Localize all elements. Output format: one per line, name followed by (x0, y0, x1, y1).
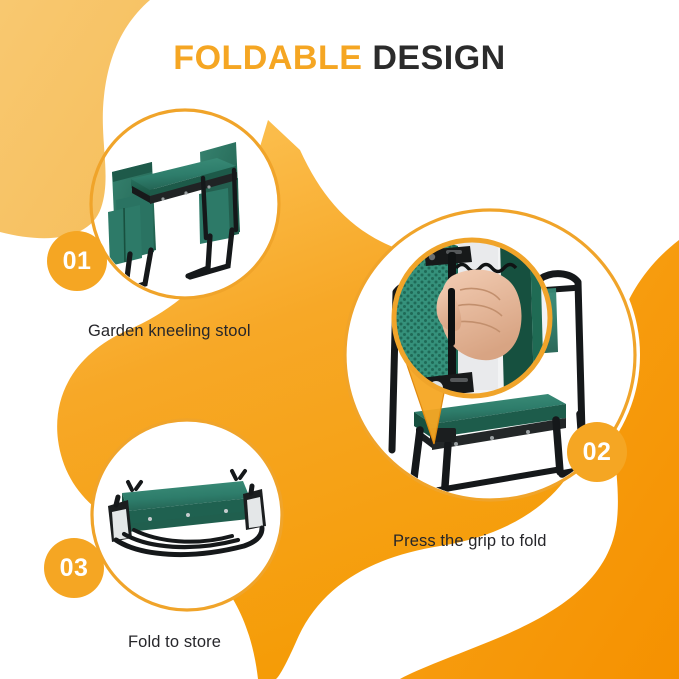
title-highlight: FOLDABLE (173, 39, 362, 77)
step-badge-03: 03 (44, 538, 104, 598)
step-badge-02: 02 (567, 422, 627, 482)
page-title: FOLDABLE DESIGN (0, 41, 679, 75)
step-caption-03: Fold to store (128, 633, 221, 652)
step-caption-01: Garden kneeling stool (88, 322, 251, 341)
infographic-canvas: FOLDABLE DESIGN 01 02 03 Garden kneeling… (0, 0, 679, 679)
top-left-blob (0, 0, 150, 238)
step-badge-01: 01 (47, 231, 107, 291)
title-rest: DESIGN (372, 39, 505, 77)
step-caption-02: Press the grip to fold (393, 532, 547, 551)
